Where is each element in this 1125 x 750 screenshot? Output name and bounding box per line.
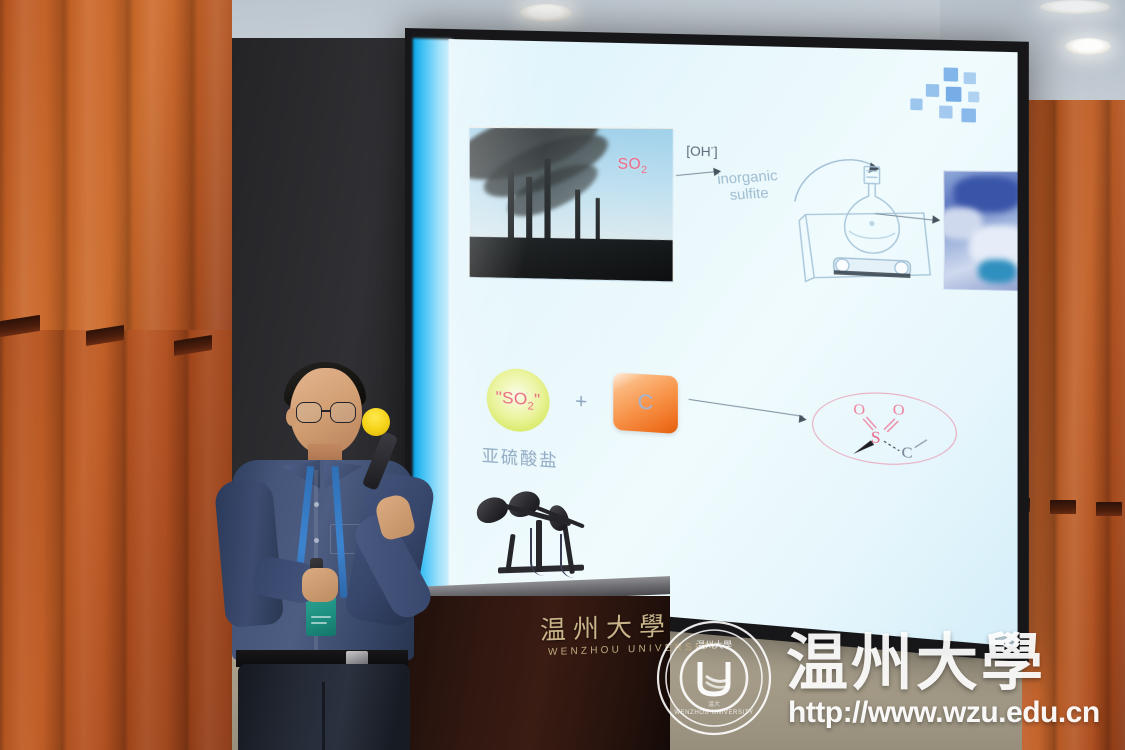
svg-text:WENZHOU UNIVERSITY: WENZHOU UNIVERSITY bbox=[674, 710, 753, 716]
university-watermark: 温州大學 WENZHOU UNIVERSITY 温大 温州大學 http://w… bbox=[640, 604, 1125, 750]
shirt-button bbox=[314, 502, 319, 507]
inorganic-sulfite-line2: sulfite bbox=[729, 184, 770, 203]
carbon-reagent-box: C bbox=[613, 372, 678, 434]
svg-text:温大: 温大 bbox=[708, 700, 720, 708]
downlight-icon bbox=[520, 4, 572, 22]
glasses-bridge bbox=[322, 410, 331, 412]
glasses-lens-right bbox=[330, 402, 356, 423]
so2-bubble: "SO2" bbox=[487, 367, 550, 434]
reaction-arrow-3 bbox=[689, 399, 804, 417]
shirt-button bbox=[314, 538, 319, 543]
university-seal-icon: 温州大學 WENZHOU UNIVERSITY 温大 bbox=[654, 618, 774, 738]
laboratory-photo bbox=[944, 170, 1018, 291]
inorganic-sulfite-line1: inorganic bbox=[716, 167, 778, 188]
so2-photo-label: SO2 bbox=[618, 155, 648, 176]
hydroxide-reagent-label: [OH-] bbox=[686, 142, 717, 160]
slat-notch bbox=[1096, 502, 1122, 516]
trouser-seam bbox=[322, 682, 325, 750]
svg-text:温州大學: 温州大學 bbox=[696, 639, 732, 651]
wall-left-wood-slats-upper bbox=[0, 0, 232, 330]
chinese-sulfite-label: 亚硫酸盐 bbox=[475, 441, 566, 473]
smokestack-photo: SO2 bbox=[469, 127, 674, 283]
inorganic-sulfite-label: inorganic sulfite bbox=[716, 167, 780, 204]
downlight-icon bbox=[1065, 38, 1111, 55]
laboratory-flask-illustration bbox=[791, 147, 939, 306]
svg-text:C: C bbox=[902, 444, 913, 462]
speaker-hand-left bbox=[302, 568, 338, 602]
speaker bbox=[196, 362, 426, 750]
so2-bubble-label: "SO2" bbox=[496, 387, 541, 413]
badge-text-line bbox=[311, 622, 327, 624]
industrial-silhouette bbox=[470, 237, 673, 282]
reaction-arrow-2-head bbox=[932, 215, 940, 224]
microphone-cable bbox=[530, 528, 552, 576]
sulfone-structure-illustration: O O S C bbox=[812, 382, 957, 476]
reaction-arrow-3-head bbox=[799, 415, 807, 424]
plus-sign: + bbox=[575, 391, 587, 415]
watermark-url: http://www.wzu.edu.cn bbox=[788, 696, 1100, 730]
carbon-label: C bbox=[638, 390, 654, 416]
presentation-scene: SO2 [OH-] inorganic sulfite bbox=[0, 0, 1125, 750]
slide-corner-squares-icon bbox=[910, 67, 999, 125]
slat-notch bbox=[1050, 500, 1076, 514]
svg-text:O: O bbox=[853, 401, 865, 419]
glasses-lens-left bbox=[296, 402, 322, 423]
watermark-chinese-name: 温州大學 bbox=[786, 612, 1046, 702]
microphone-cable bbox=[560, 534, 586, 578]
downlight-icon bbox=[1040, 0, 1110, 14]
badge-text-line bbox=[311, 616, 331, 618]
svg-text:O: O bbox=[893, 402, 905, 420]
